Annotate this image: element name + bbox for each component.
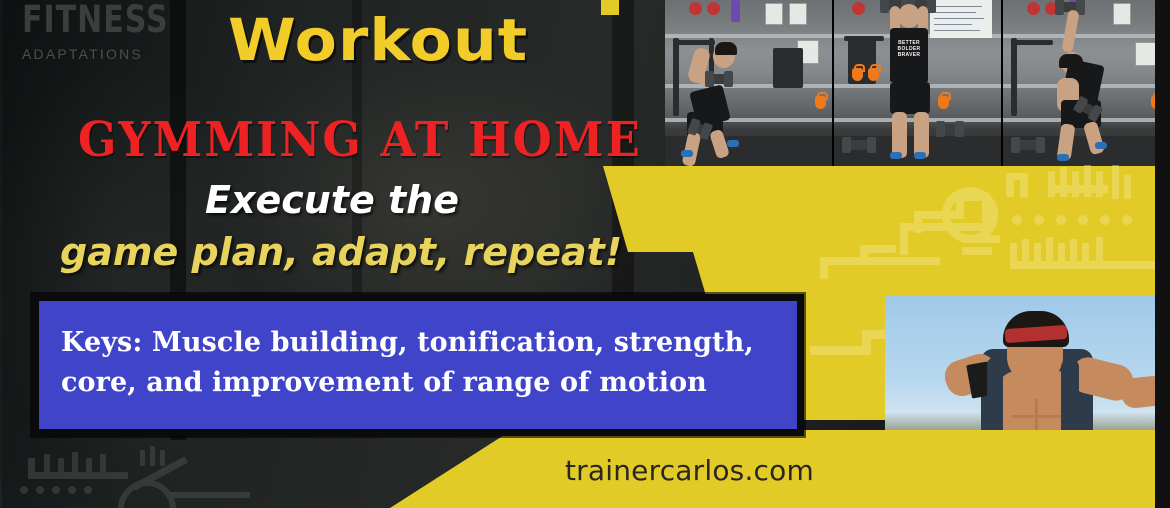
headline-gymming-at-home: GYMMING AT HOME [78,112,642,168]
brand-logo-primary: FITNESS [22,2,202,40]
athlete-tank-top: BETTER BOLDER BRAVER [890,28,928,82]
aztec-pattern-dark [10,442,260,506]
keys-callout-text: Keys: Muscle building, tonification, str… [61,323,785,403]
brand-logo: FITNESS ADAPTATIONS [22,2,202,62]
subheadline-execute: Execute the [205,178,459,222]
website-url[interactable]: trainercarlos.com [565,454,814,487]
yellow-accent-chip [601,0,619,15]
keys-callout-box: Keys: Muscle building, tonification, str… [32,294,804,436]
photo-bent-over-dumbbell-row [665,0,832,166]
headline-workout: Workout [228,6,528,74]
brand-logo-secondary: ADAPTATIONS [22,46,202,62]
poster-canvas: FITNESS ADAPTATIONS [0,0,1170,508]
photo-single-arm-dumbbell-snatch [1003,0,1170,166]
subheadline-gameplan: game plan, adapt, repeat! [60,230,622,274]
tank-top-slogan: BETTER BOLDER BRAVER [890,40,928,58]
photo-overhead-dumbbell-press: BETTER BOLDER BRAVER [834,0,1001,166]
gym-photo-strip: BETTER BOLDER BRAVER [665,0,1170,166]
right-edge-border [1155,0,1170,508]
